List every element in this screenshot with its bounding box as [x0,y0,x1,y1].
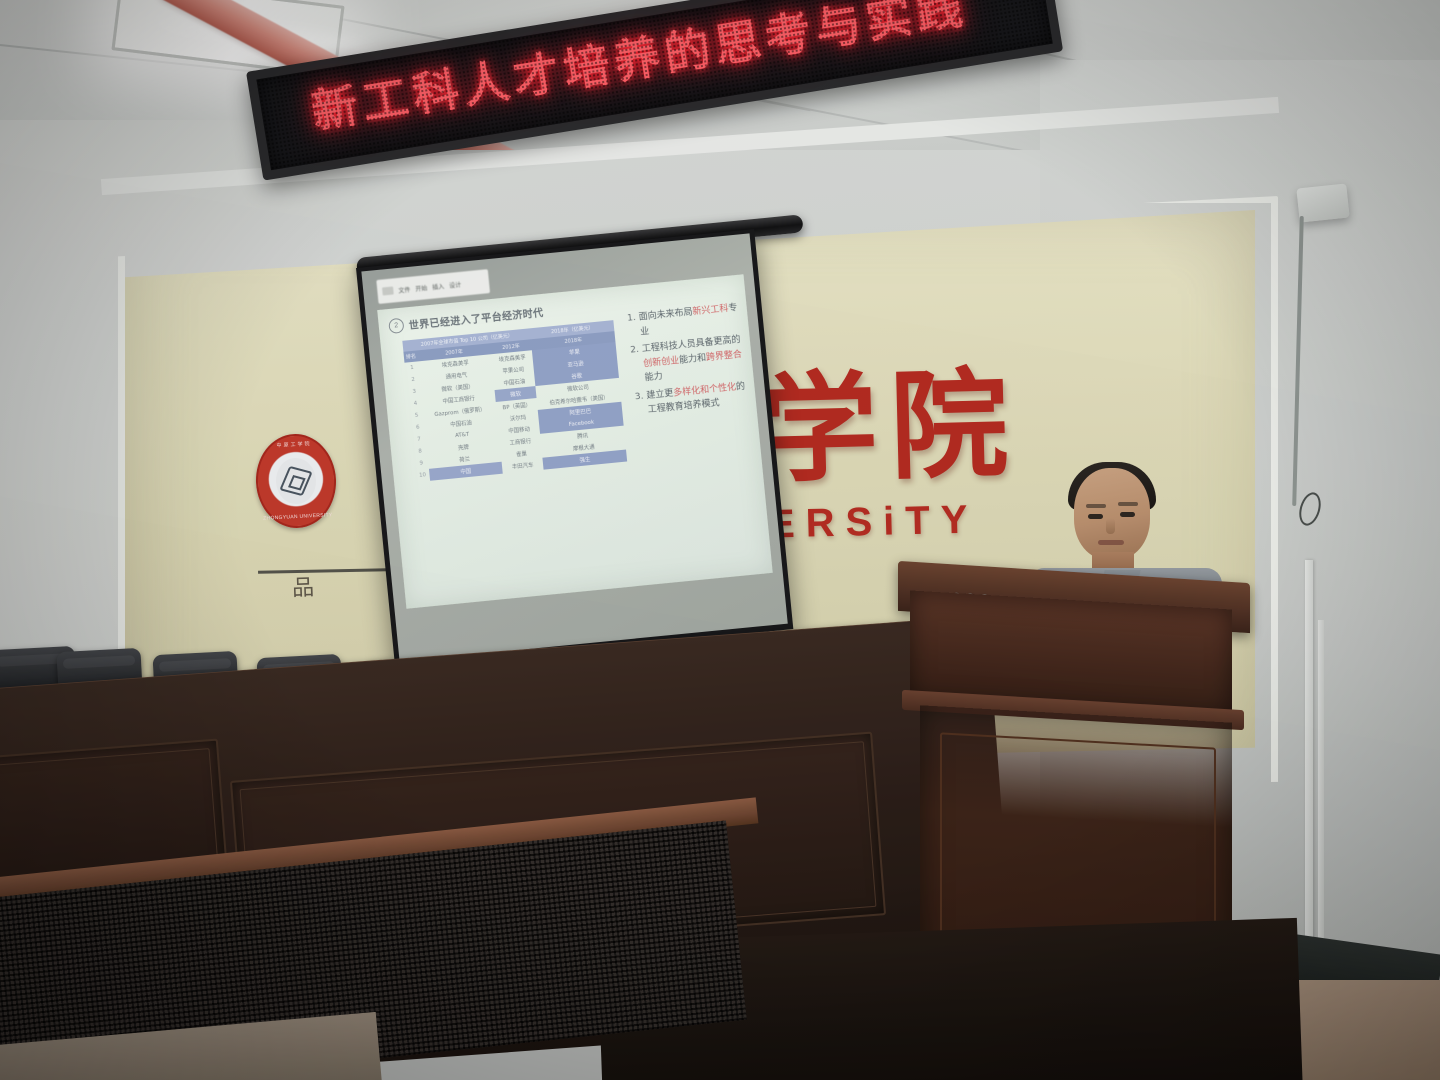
slide-bullet-highlight: 多样化和个性化 [673,382,737,398]
slide-bullet-highlight: 跨界整合 [706,350,743,363]
toolbar-item-0[interactable]: 文件 [398,284,411,294]
speaker-nose [1106,518,1115,534]
slide-bullet-plain: 建立更 [646,389,674,402]
lecture-hall-photo: 中原工学院 ZHONGYUAN UNIVERSITY 品 学院 ERSiTY 新… [0,0,1440,1080]
slide-bullet-highlight: 新兴 [692,306,711,318]
slide-bullet-item: 2.工程科技人员具备更高的创新创业能力和跨界整合能力 [630,333,746,387]
slide-bullet-highlight: 工科 [710,304,729,316]
speaker-brow [1118,502,1138,506]
slide-bullet-number: 1. [627,311,638,341]
slide-table: 2007年全球市值 Top 10 公司（亿美元）2018年（亿美元）排名2007… [402,320,627,482]
backdrop-calligraphy-english: ERSiTY [767,497,979,547]
emblem-inner-shield [275,457,317,505]
table-cell: 10 [415,469,430,482]
backdrop-calligraphy: 学院 [759,365,1022,489]
slide-bullet-highlight: 创新创业 [643,356,680,369]
slide-bullet-text: 建立更多样化和个性化的工程教育培养模式 [646,379,749,418]
presentation-toolbar[interactable]: 文件 开始 插入 设计 [376,269,490,304]
toolbar-item-2[interactable]: 插入 [432,281,445,291]
projection-screen-surface: 文件 开始 插入 设计 2 世界已经进入了平台经济时代 2007年全球市值 To… [361,233,787,661]
speaker-mouth [1098,540,1124,545]
emblem-glyph-icon [279,466,312,496]
toolbar-item-1[interactable]: 开始 [415,283,428,293]
slide-bullet-plain: 能力和 [679,353,707,366]
table-cell: 丰田汽车 [501,458,544,474]
wall-speaker-box [1296,183,1349,222]
wall-cable-conduit [1305,560,1313,980]
slide-bullet-text: 工程科技人员具备更高的创新创业能力和跨界整合能力 [641,333,745,386]
speaker-eye [1120,512,1135,517]
projection-screen: 文件 开始 插入 设计 2 世界已经进入了平台经济时代 2007年全球市值 To… [356,229,793,668]
slide-content: 2 世界已经进入了平台经济时代 2007年全球市值 Top 10 公司（亿美元）… [377,274,773,608]
slide-bullet-plain: 面向未来布局 [638,307,693,322]
slide-bullet-list: 1.面向未来布局新兴工科专业2.工程科技人员具备更高的创新创业能力和跨界整合能力… [627,301,749,422]
slide-bullet-number: 2. [630,343,643,387]
speaker-eye [1088,514,1103,519]
slide-bullet-number: 3. [634,389,645,419]
slide-section-number: 2 [388,318,404,334]
toolbar-item-3[interactable]: 设计 [449,279,462,289]
speaker-brow [1086,504,1106,508]
speaker-head [1074,468,1150,560]
wall-character: 品 [291,570,314,603]
slide-bullet-plain: 能力 [644,372,663,384]
toolbar-chip-icon [382,286,394,295]
wall-cable-conduit [1318,620,1324,980]
